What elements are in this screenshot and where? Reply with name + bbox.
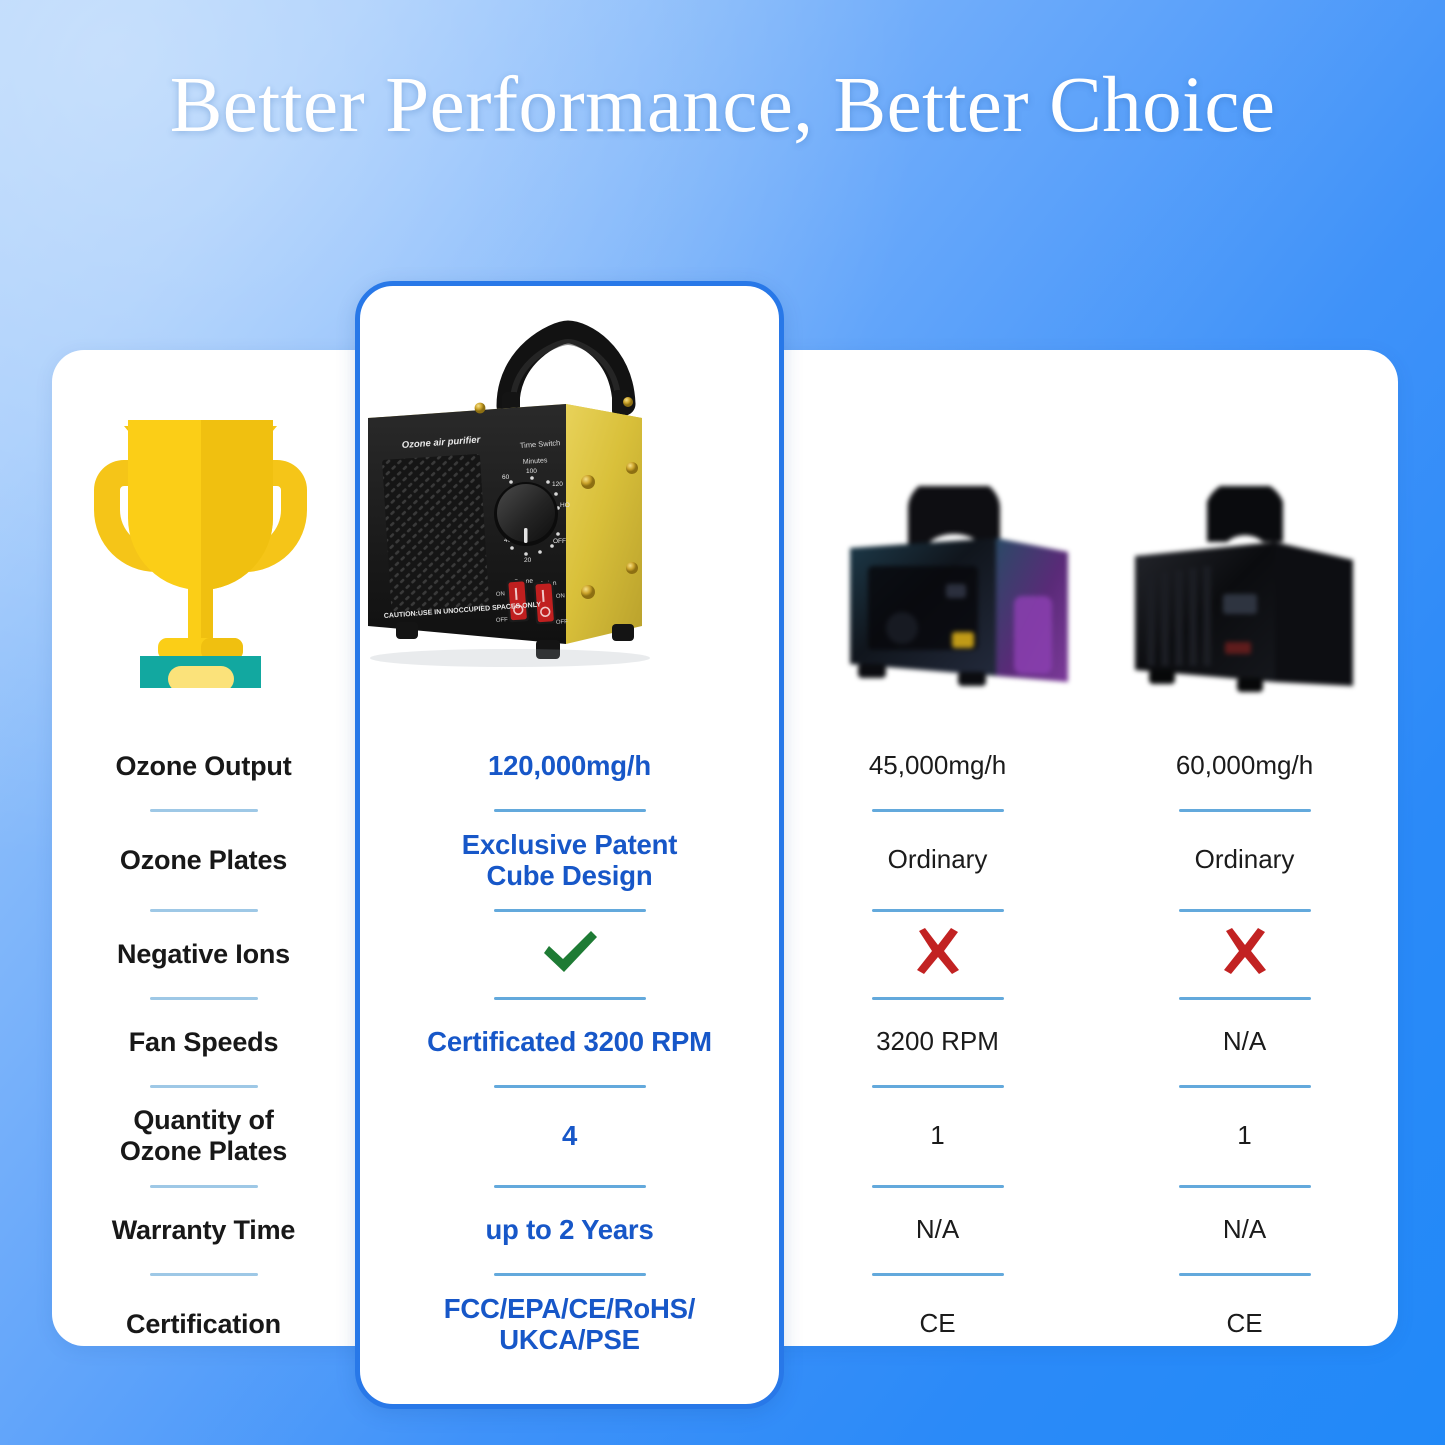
competitor-product-a-image bbox=[838, 486, 1083, 701]
divider-main bbox=[355, 1261, 784, 1287]
divider-label bbox=[52, 1073, 355, 1099]
competitor-a-value-warranty-time: N/A bbox=[784, 1199, 1091, 1261]
competitor-b-value-fan-speeds: N/A bbox=[1091, 1011, 1398, 1073]
trophy-icon bbox=[78, 398, 323, 688]
competitor-b-value-text: N/A bbox=[1223, 1215, 1266, 1245]
row-label-text: Certification bbox=[126, 1309, 281, 1340]
competitor-product-b-image bbox=[1125, 486, 1370, 701]
competitor-b-value-ozone-output: 60,000mg/h bbox=[1091, 735, 1398, 797]
cross-icon bbox=[913, 928, 963, 981]
main-value-warranty-time: up to 2 Years bbox=[355, 1199, 784, 1261]
row-label-quantity-of-ozone-plates: Quantity ofOzone Plates bbox=[52, 1099, 355, 1173]
divider-label bbox=[52, 1173, 355, 1199]
divider-competitor-a bbox=[784, 985, 1091, 1011]
svg-text:20: 20 bbox=[524, 557, 532, 564]
svg-text:OFF: OFF bbox=[556, 619, 569, 626]
table-row: Negative Ions bbox=[52, 923, 1398, 985]
divider-competitor-b bbox=[1091, 797, 1398, 823]
row-label-warranty-time: Warranty Time bbox=[52, 1199, 355, 1261]
table-row: Quantity ofOzone Plates 4 1 1 bbox=[52, 1099, 1398, 1173]
divider-main bbox=[355, 897, 784, 923]
divider-row bbox=[52, 1073, 1398, 1099]
competitor-a-value-text: 3200 RPM bbox=[876, 1027, 999, 1057]
check-icon bbox=[539, 929, 601, 980]
table-row: Ozone Output 120,000mg/h 45,000mg/h 60,0… bbox=[52, 735, 1398, 797]
row-label-ozone-output: Ozone Output bbox=[52, 735, 355, 797]
competitor-a-value-text: CE bbox=[919, 1309, 955, 1339]
divider-label bbox=[52, 1261, 355, 1287]
divider-competitor-b bbox=[1091, 1073, 1398, 1099]
divider-row bbox=[52, 985, 1398, 1011]
divider-main bbox=[355, 985, 784, 1011]
competitor-a-value-negative-ions bbox=[784, 923, 1091, 985]
table-row: Warranty Time up to 2 Years N/A N/A bbox=[52, 1199, 1398, 1261]
divider-competitor-b bbox=[1091, 1261, 1398, 1287]
main-value-fan-speeds: Certificated 3200 RPM bbox=[355, 1011, 784, 1073]
svg-text:ON: ON bbox=[496, 591, 505, 598]
competitor-b-value-warranty-time: N/A bbox=[1091, 1199, 1398, 1261]
main-value-text: 4 bbox=[562, 1120, 577, 1151]
svg-text:HO: HO bbox=[560, 502, 570, 509]
divider-main bbox=[355, 1173, 784, 1199]
ozone-generator-hero-image: Ozone air purifier Time Switch Minutes 1… bbox=[360, 296, 779, 696]
table-row: Certification FCC/EPA/CE/RoHS/UKCA/PSE C… bbox=[52, 1287, 1398, 1361]
competitor-a-value-ozone-plates: Ordinary bbox=[784, 823, 1091, 897]
competitor-b-value-text: 60,000mg/h bbox=[1176, 751, 1313, 781]
competitor-b-value-text: N/A bbox=[1223, 1027, 1266, 1057]
competitor-a-value-text: 1 bbox=[930, 1121, 944, 1151]
comparison-grid: Ozone Output 120,000mg/h 45,000mg/h 60,0… bbox=[52, 735, 1398, 1361]
competitor-b-value-text: 1 bbox=[1237, 1121, 1251, 1151]
main-value-quantity-of-ozone-plates: 4 bbox=[355, 1099, 784, 1173]
svg-text:OFF: OFF bbox=[496, 617, 509, 624]
divider-competitor-a bbox=[784, 897, 1091, 923]
competitor-a-value-text: Ordinary bbox=[888, 845, 988, 875]
competitor-a-value-ozone-output: 45,000mg/h bbox=[784, 735, 1091, 797]
divider-row bbox=[52, 797, 1398, 823]
divider-competitor-b bbox=[1091, 1173, 1398, 1199]
main-value-text: FCC/EPA/CE/RoHS/UKCA/PSE bbox=[444, 1293, 695, 1356]
svg-text:ON: ON bbox=[556, 593, 565, 600]
row-label-negative-ions: Negative Ions bbox=[52, 923, 355, 985]
divider-main bbox=[355, 797, 784, 823]
divider-competitor-a bbox=[784, 1261, 1091, 1287]
row-label-ozone-plates: Ozone Plates bbox=[52, 823, 355, 897]
row-label-text: Fan Speeds bbox=[129, 1027, 279, 1058]
row-label-text: Warranty Time bbox=[112, 1215, 295, 1246]
competitor-b-value-negative-ions bbox=[1091, 923, 1398, 985]
main-value-text: up to 2 Years bbox=[485, 1214, 653, 1245]
row-label-text: Negative Ions bbox=[117, 939, 290, 970]
competitor-b-value-certification: CE bbox=[1091, 1287, 1398, 1361]
main-value-text: Certificated 3200 RPM bbox=[427, 1026, 712, 1057]
divider-main bbox=[355, 1073, 784, 1099]
row-label-text: Ozone Output bbox=[115, 751, 291, 782]
divider-competitor-a bbox=[784, 1173, 1091, 1199]
main-value-ozone-plates: Exclusive PatentCube Design bbox=[355, 823, 784, 897]
main-value-certification: FCC/EPA/CE/RoHS/UKCA/PSE bbox=[355, 1287, 784, 1361]
row-label-text: Quantity ofOzone Plates bbox=[120, 1105, 287, 1167]
competitor-a-value-certification: CE bbox=[784, 1287, 1091, 1361]
competitor-b-value-quantity-of-ozone-plates: 1 bbox=[1091, 1099, 1398, 1173]
svg-text:OFF: OFF bbox=[553, 538, 566, 545]
svg-text:60: 60 bbox=[502, 474, 510, 481]
svg-text:100: 100 bbox=[526, 468, 537, 475]
competitor-b-value-ozone-plates: Ordinary bbox=[1091, 823, 1398, 897]
main-value-text: 120,000mg/h bbox=[488, 750, 651, 781]
divider-label bbox=[52, 797, 355, 823]
competitor-a-value-text: 45,000mg/h bbox=[869, 751, 1006, 781]
row-label-text: Ozone Plates bbox=[120, 845, 287, 876]
row-label-fan-speeds: Fan Speeds bbox=[52, 1011, 355, 1073]
svg-text:120: 120 bbox=[552, 481, 563, 488]
divider-label bbox=[52, 985, 355, 1011]
divider-competitor-a bbox=[784, 1073, 1091, 1099]
competitor-a-value-quantity-of-ozone-plates: 1 bbox=[784, 1099, 1091, 1173]
divider-row bbox=[52, 1261, 1398, 1287]
divider-row bbox=[52, 897, 1398, 923]
competitor-a-value-fan-speeds: 3200 RPM bbox=[784, 1011, 1091, 1073]
divider-competitor-a bbox=[784, 797, 1091, 823]
divider-competitor-b bbox=[1091, 985, 1398, 1011]
competitor-b-value-text: CE bbox=[1226, 1309, 1262, 1339]
competitor-a-value-text: N/A bbox=[916, 1215, 959, 1245]
divider-label bbox=[52, 897, 355, 923]
page-title: Better Performance, Better Choice bbox=[0, 63, 1445, 148]
main-value-text: Exclusive PatentCube Design bbox=[462, 829, 677, 892]
divider-competitor-b bbox=[1091, 897, 1398, 923]
table-row: Ozone Plates Exclusive PatentCube Design… bbox=[52, 823, 1398, 897]
main-value-negative-ions bbox=[355, 923, 784, 985]
competitor-b-value-text: Ordinary bbox=[1195, 845, 1295, 875]
row-label-certification: Certification bbox=[52, 1287, 355, 1361]
main-value-ozone-output: 120,000mg/h bbox=[355, 735, 784, 797]
table-row: Fan Speeds Certificated 3200 RPM 3200 RP… bbox=[52, 1011, 1398, 1073]
divider-row bbox=[52, 1173, 1398, 1199]
cross-icon bbox=[1220, 928, 1270, 981]
